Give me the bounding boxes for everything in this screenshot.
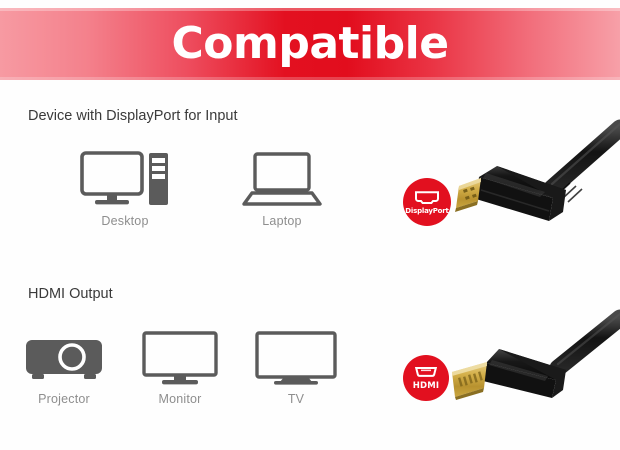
hdmi-connector-icon xyxy=(413,366,439,378)
device-list-hdmi: Projector Monitor xyxy=(0,324,400,434)
desktop-computer-icon xyxy=(58,146,192,208)
device-label-monitor: Monitor xyxy=(124,392,236,406)
laptop-icon xyxy=(215,146,349,208)
section-title-hdmi: HDMI Output xyxy=(28,286,113,302)
section-hdmi-output: HDMI Output Projector xyxy=(0,278,620,443)
device-label-tv: TV xyxy=(240,392,352,406)
section-title-displayport: Device with DisplayPort for Input xyxy=(28,108,238,124)
device-item-projector: Projector xyxy=(8,324,120,406)
device-label-desktop: Desktop xyxy=(58,214,192,228)
device-label-laptop: Laptop xyxy=(215,214,349,228)
device-label-projector: Projector xyxy=(8,392,120,406)
device-item-desktop: Desktop xyxy=(58,146,192,228)
page-title: Compatible xyxy=(171,22,448,66)
hdmi-badge-label: HDMI xyxy=(413,382,440,391)
header-banner: Compatible xyxy=(0,8,620,80)
device-list-displayport: Desktop Laptop xyxy=(0,146,400,256)
tv-icon xyxy=(240,324,352,386)
device-item-tv: TV xyxy=(240,324,352,406)
compatibility-infographic: Compatible Device with DisplayPort for I… xyxy=(0,0,620,450)
displayport-badge: DisplayPort xyxy=(403,178,451,226)
projector-icon xyxy=(8,324,120,386)
displayport-badge-label: DisplayPort xyxy=(405,208,448,215)
device-item-laptop: Laptop xyxy=(215,146,349,228)
section-displayport-input: Device with DisplayPort for Input xyxy=(0,100,620,260)
hdmi-badge: HDMI xyxy=(403,355,449,401)
displayport-connector-icon xyxy=(414,190,440,205)
monitor-icon xyxy=(124,324,236,386)
device-item-monitor: Monitor xyxy=(124,324,236,406)
